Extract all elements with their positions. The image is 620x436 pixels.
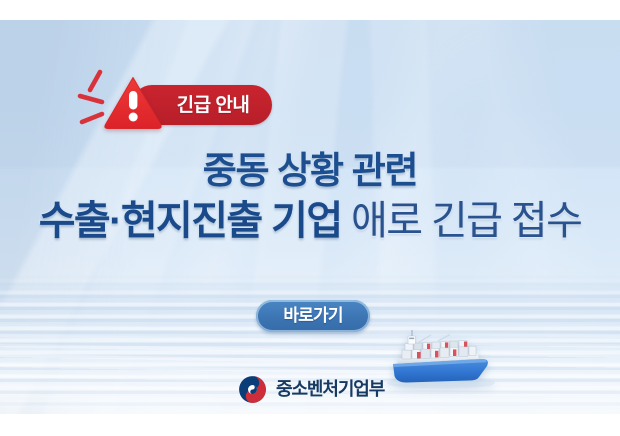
go-to-link-button[interactable]: 바로가기 (256, 300, 370, 332)
taegeuk-emblem-icon (238, 375, 267, 404)
container-ship-icon (383, 326, 495, 394)
headline-line-2-light: 애로 긴급 접수 (342, 199, 582, 243)
headline: 중동 상황 관련 수출·현지진출 기업 애로 긴급 접수 (0, 150, 620, 244)
headline-line-2-strong: 수출·현지진출 기업 (39, 199, 342, 243)
headline-line-1: 중동 상황 관련 (0, 150, 620, 191)
ministry-name: 중소벤처기업부 (276, 380, 384, 398)
headline-line-2: 수출·현지진출 기업 애로 긴급 접수 (0, 199, 620, 244)
promo-banner: 긴급 안내 중동 상황 관련 수출·현지진출 기업 애로 긴급 접수 바로가기 (0, 0, 620, 436)
warning-triangle-icon (102, 74, 164, 132)
ministry-logo: 중소벤처기업부 (238, 370, 384, 408)
urgent-badge: 긴급 안내 (72, 68, 292, 144)
banner-canvas: 긴급 안내 중동 상황 관련 수출·현지진출 기업 애로 긴급 접수 바로가기 (0, 20, 620, 414)
